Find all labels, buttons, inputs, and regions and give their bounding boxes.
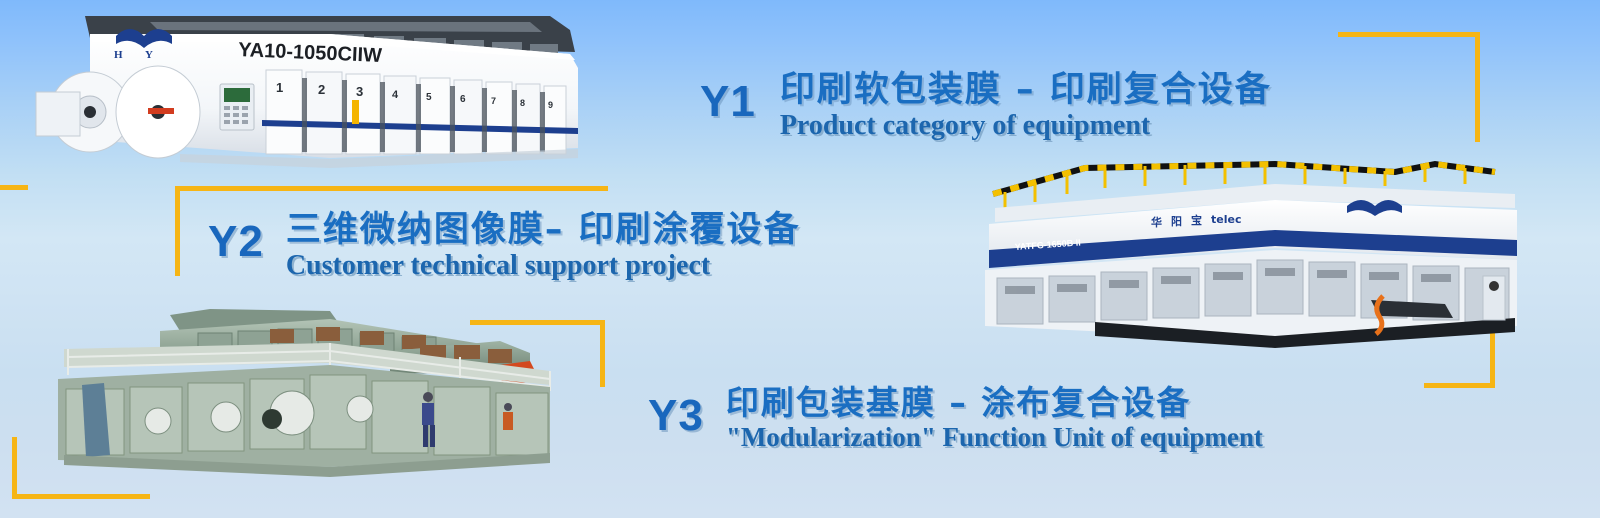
- machine-photo-coating-line: [30, 305, 575, 485]
- bracket-y2-left-vertical: [175, 186, 180, 276]
- bracket-m2-horizontal: [1424, 383, 1495, 388]
- entry-y1-code: Y1: [700, 80, 756, 124]
- svg-text:telec: telec: [1211, 213, 1241, 226]
- entry-y3-english-subtitle: "Modularization" Function Unit of equipm…: [726, 423, 1263, 451]
- entry-y3-code: Y3: [648, 394, 704, 438]
- bracket-y1-horizontal: [1338, 32, 1480, 37]
- machine-photo-rotogravure-press: 1 2 3 4 5 6 7 8 9 H Y YA10-1050CIIW: [30, 8, 605, 176]
- svg-text:8: 8: [520, 98, 525, 108]
- bracket-y1-vertical: [1475, 32, 1480, 142]
- svg-text:2: 2: [318, 82, 325, 97]
- svg-text:1: 1: [276, 80, 283, 95]
- svg-text:Y: Y: [145, 49, 153, 61]
- entry-y1: Y1 印刷软包装膜 – 印刷复合设备 Product category of e…: [700, 72, 1272, 140]
- svg-text:7: 7: [491, 96, 496, 106]
- bracket-y2-top-horizontal: [175, 186, 608, 191]
- entry-y1-chinese-title: 印刷软包装膜 – 印刷复合设备: [780, 72, 1272, 109]
- svg-text:9: 9: [548, 100, 553, 110]
- entry-y1-english-subtitle: Product category of equipment: [780, 111, 1272, 140]
- svg-text:H: H: [114, 49, 123, 61]
- bracket-y2-stub: [0, 185, 28, 190]
- entry-y2-english-subtitle: Customer technical support project: [286, 251, 801, 280]
- entry-y3: Y3 印刷包装基膜 – 涂布复合设备 "Modularization" Func…: [648, 386, 1263, 451]
- bracket-y2-down-vertical: [600, 320, 605, 387]
- svg-text:3: 3: [356, 84, 363, 99]
- bracket-y3-bottom-horizontal: [12, 494, 150, 499]
- svg-text:宝: 宝: [1191, 213, 1202, 227]
- machine-photo-laminator: 华阳 宝telec YATFG-1650B II: [975, 150, 1520, 350]
- svg-text:4: 4: [392, 89, 399, 101]
- entry-y2-chinese-title: 三维微纳图像膜– 印刷涂覆设备: [286, 212, 801, 249]
- entry-y3-chinese-title: 印刷包装基膜 – 涂布复合设备: [726, 386, 1263, 421]
- svg-text:阳: 阳: [1171, 214, 1182, 228]
- entry-y2: Y2 三维微纳图像膜– 印刷涂覆设备 Customer technical su…: [208, 212, 801, 280]
- svg-text:5: 5: [426, 92, 432, 103]
- banner-root: 1 2 3 4 5 6 7 8 9 H Y YA10-1050CIIW: [0, 0, 1600, 518]
- bracket-y3-left-vertical: [12, 437, 17, 499]
- entry-y2-code: Y2: [208, 220, 264, 264]
- svg-text:6: 6: [460, 94, 466, 105]
- svg-text:华: 华: [1151, 215, 1162, 229]
